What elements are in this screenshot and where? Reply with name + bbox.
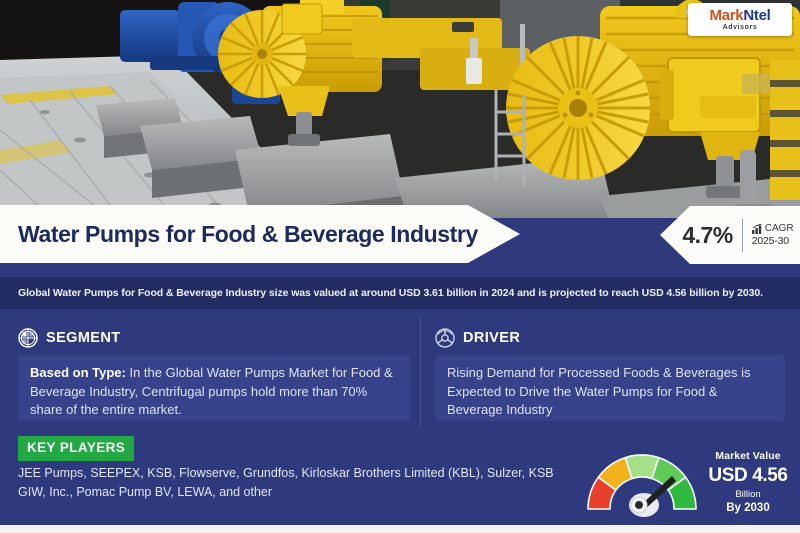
key-players-badge: KEY PLAYERS (18, 436, 134, 461)
market-value-year: By 2030 (700, 501, 796, 516)
logo-mark-text: Mark (710, 7, 744, 24)
driver-panel: Rising Demand for Processed Foods & Beve… (435, 355, 785, 421)
market-value-unit: Billion (700, 488, 796, 501)
segment-title: SEGMENT (46, 330, 121, 346)
driver-title: DRIVER (463, 330, 520, 346)
globe-icon (18, 328, 38, 348)
hero-photo (0, 0, 800, 218)
cagr-label-row: CAGR (752, 223, 794, 235)
cagr-years: 2025-30 (752, 235, 794, 247)
brand-logo[interactable]: MarkNtel Advisors (688, 3, 792, 36)
cagr-label: CAGR (765, 223, 794, 235)
logo-ntel-text: Ntel (743, 7, 770, 24)
cagr-meta: CAGR 2025-30 (752, 223, 794, 247)
footer-strip (0, 525, 800, 533)
segment-body: Based on Type: In the Global Water Pumps… (30, 364, 398, 420)
gauge-graphic (583, 447, 701, 519)
subtitle-text: Global Water Pumps for Food & Beverage I… (0, 287, 763, 299)
market-value-block: Market Value USD 4.56 Billion By 2030 (700, 450, 796, 516)
subtitle-bar: Global Water Pumps for Food & Beverage I… (0, 277, 800, 309)
logo-subtitle: Advisors (723, 23, 758, 32)
steering-wheel-icon (435, 328, 455, 348)
title-banner: Water Pumps for Food & Beverage Industry (0, 205, 520, 263)
cagr-value: 4.7% (682, 222, 732, 249)
column-divider (420, 318, 421, 426)
infographic-poster: MarkNtel Advisors Water Pumps for Food &… (0, 0, 800, 533)
driver-body: Rising Demand for Processed Foods & Beve… (447, 364, 773, 420)
page-title: Water Pumps for Food & Beverage Industry (0, 221, 478, 248)
key-players-list: JEE Pumps, SEEPEX, KSB, Flowserve, Grund… (18, 464, 558, 502)
segment-lead: Based on Type: (30, 365, 126, 380)
pump-plant-illustration (0, 0, 800, 218)
cagr-divider (742, 219, 743, 252)
driver-heading: DRIVER (435, 328, 520, 348)
segment-heading: SEGMENT (18, 328, 121, 348)
market-value-gauge (583, 447, 701, 519)
bar-chart-icon (752, 224, 763, 234)
market-value-amount: USD 4.56 (700, 464, 796, 488)
market-value-label: Market Value (700, 450, 796, 463)
logo-wordmark: MarkNtel (710, 8, 771, 23)
segment-panel: Based on Type: In the Global Water Pumps… (18, 355, 410, 421)
key-players-title: KEY PLAYERS (27, 440, 125, 455)
